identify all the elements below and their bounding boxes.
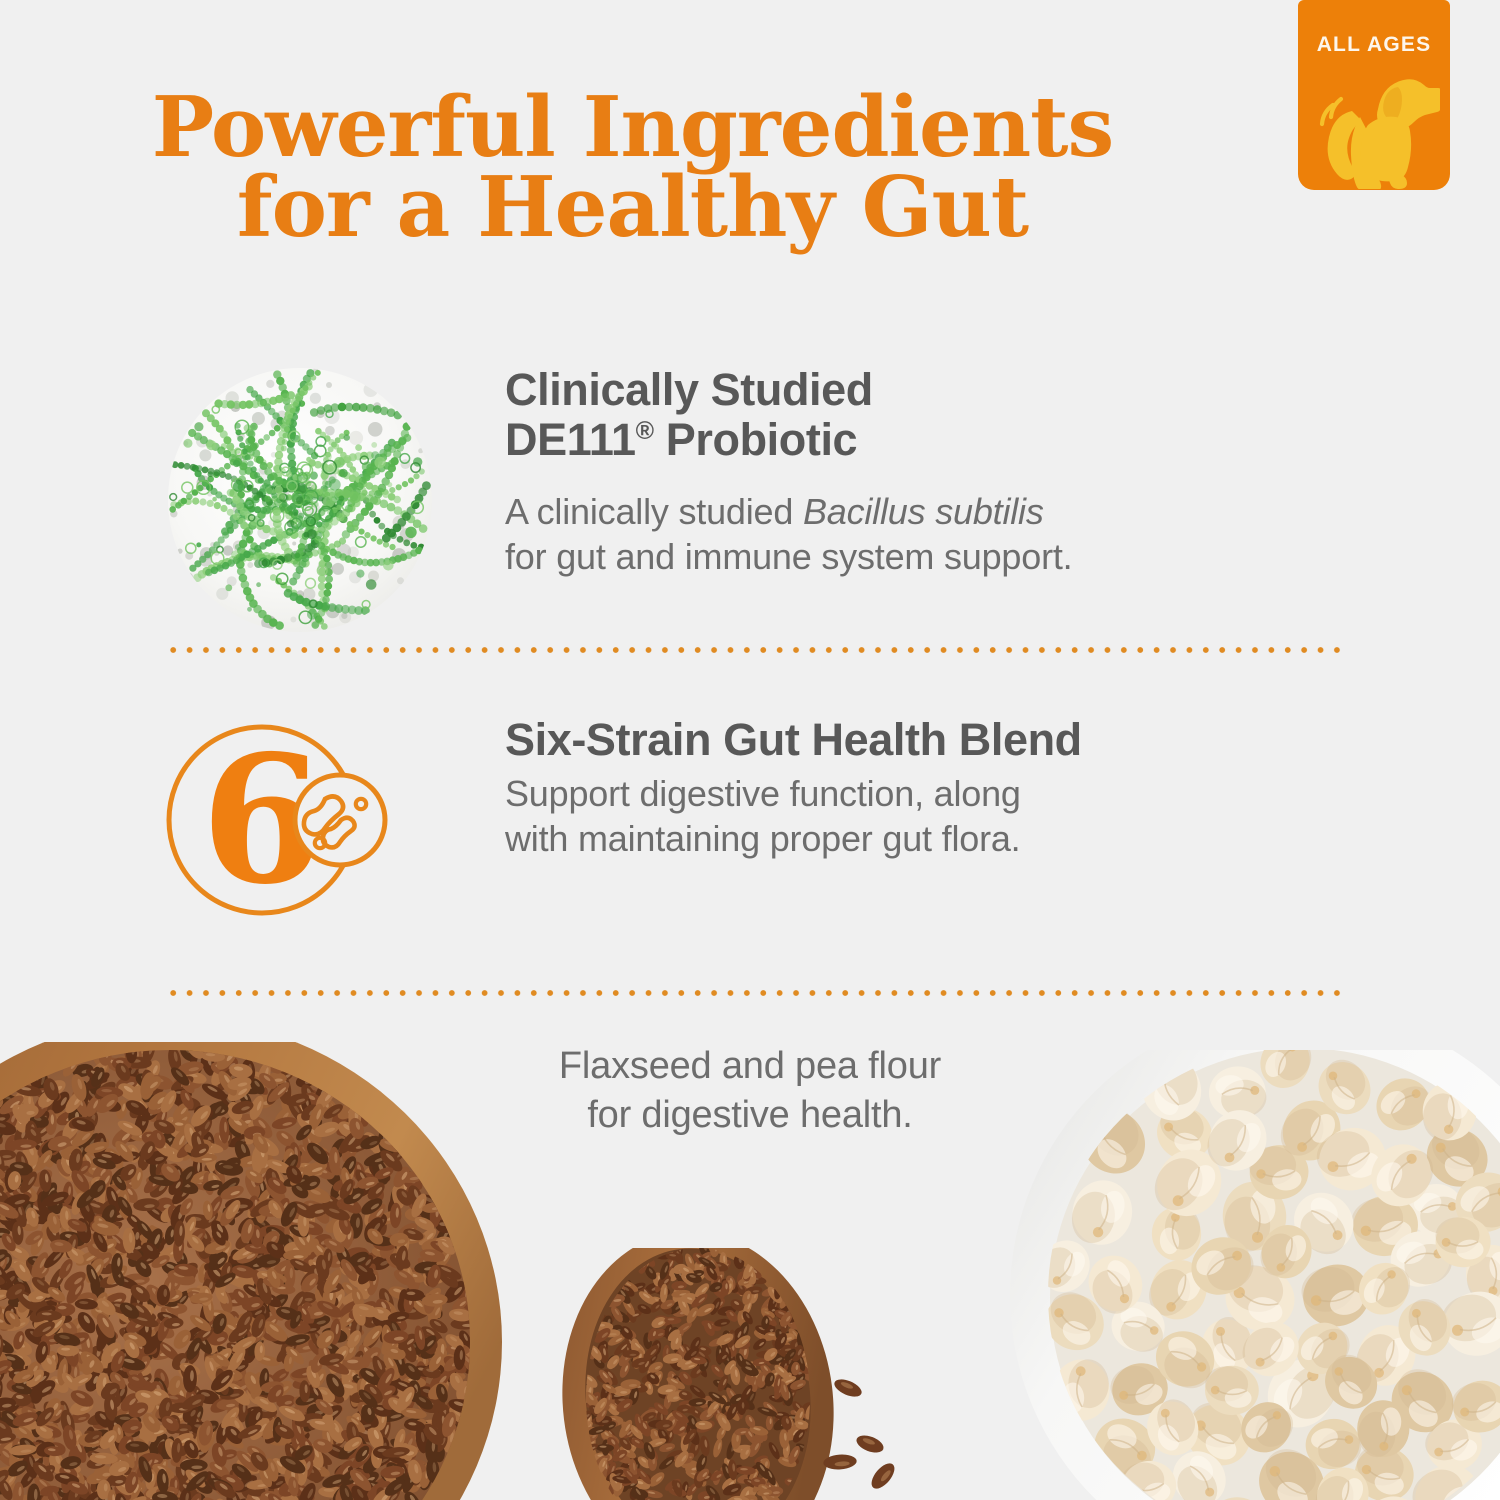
feature-heading-line2-tail: Probiotic xyxy=(654,414,858,465)
feature-heading-line1: Clinically Studied xyxy=(505,364,873,415)
divider-two xyxy=(165,989,1343,997)
feature-text-six-strain: Six-Strain Gut Health Blend Support dige… xyxy=(505,715,1082,862)
six-strain-probiotic-icon: 6 xyxy=(165,715,505,930)
feature-body-line2: with maintaining proper gut flora. xyxy=(505,818,1020,859)
feature-heading-six-strain: Six-Strain Gut Health Blend xyxy=(505,715,1082,765)
page-title-line2: for a Healthy Gut xyxy=(0,168,1265,248)
feature-body-line2: for gut and immune system support. xyxy=(505,536,1072,577)
all-ages-badge: ALL AGES xyxy=(1298,0,1450,190)
feature-body-pre: A clinically studied xyxy=(505,491,803,532)
registered-mark: ® xyxy=(636,417,654,445)
feature-body-line1: Support digestive function, along xyxy=(505,773,1021,814)
all-ages-badge-label: ALL AGES xyxy=(1317,34,1432,55)
feature-body-probiotic: A clinically studied Bacillus subtilis f… xyxy=(505,489,1072,580)
feature-row-six-strain: 6 Six-Strain Gut Health Blend Support di… xyxy=(165,715,1345,930)
page-title: Powerful Ingredients for a Healthy Gut xyxy=(0,88,1265,247)
feature-heading-probiotic: Clinically Studied DE111® Probiotic xyxy=(505,365,1072,465)
feature-text-probiotic: Clinically Studied DE111® Probiotic A cl… xyxy=(505,365,1072,580)
feature-body-six-strain: Support digestive function, along with m… xyxy=(505,771,1082,862)
feature-row-probiotic: Clinically Studied DE111® Probiotic A cl… xyxy=(165,365,1345,640)
ingredient-photo-band xyxy=(0,1020,1500,1500)
wooden-bowl-of-flaxseed xyxy=(0,1042,510,1500)
microscope-bacteria-circle-icon xyxy=(165,365,505,640)
white-bowl-of-chickpeas xyxy=(1010,1050,1500,1500)
wooden-spoon-of-flaxseed xyxy=(548,1248,968,1500)
feature-heading-line2: DE111 xyxy=(505,414,636,465)
infographic-canvas: ALL AGES xyxy=(0,0,1500,1500)
species-name: Bacillus subtilis xyxy=(803,491,1044,532)
divider-one xyxy=(165,646,1343,654)
sitting-dog-icon xyxy=(1308,59,1440,189)
